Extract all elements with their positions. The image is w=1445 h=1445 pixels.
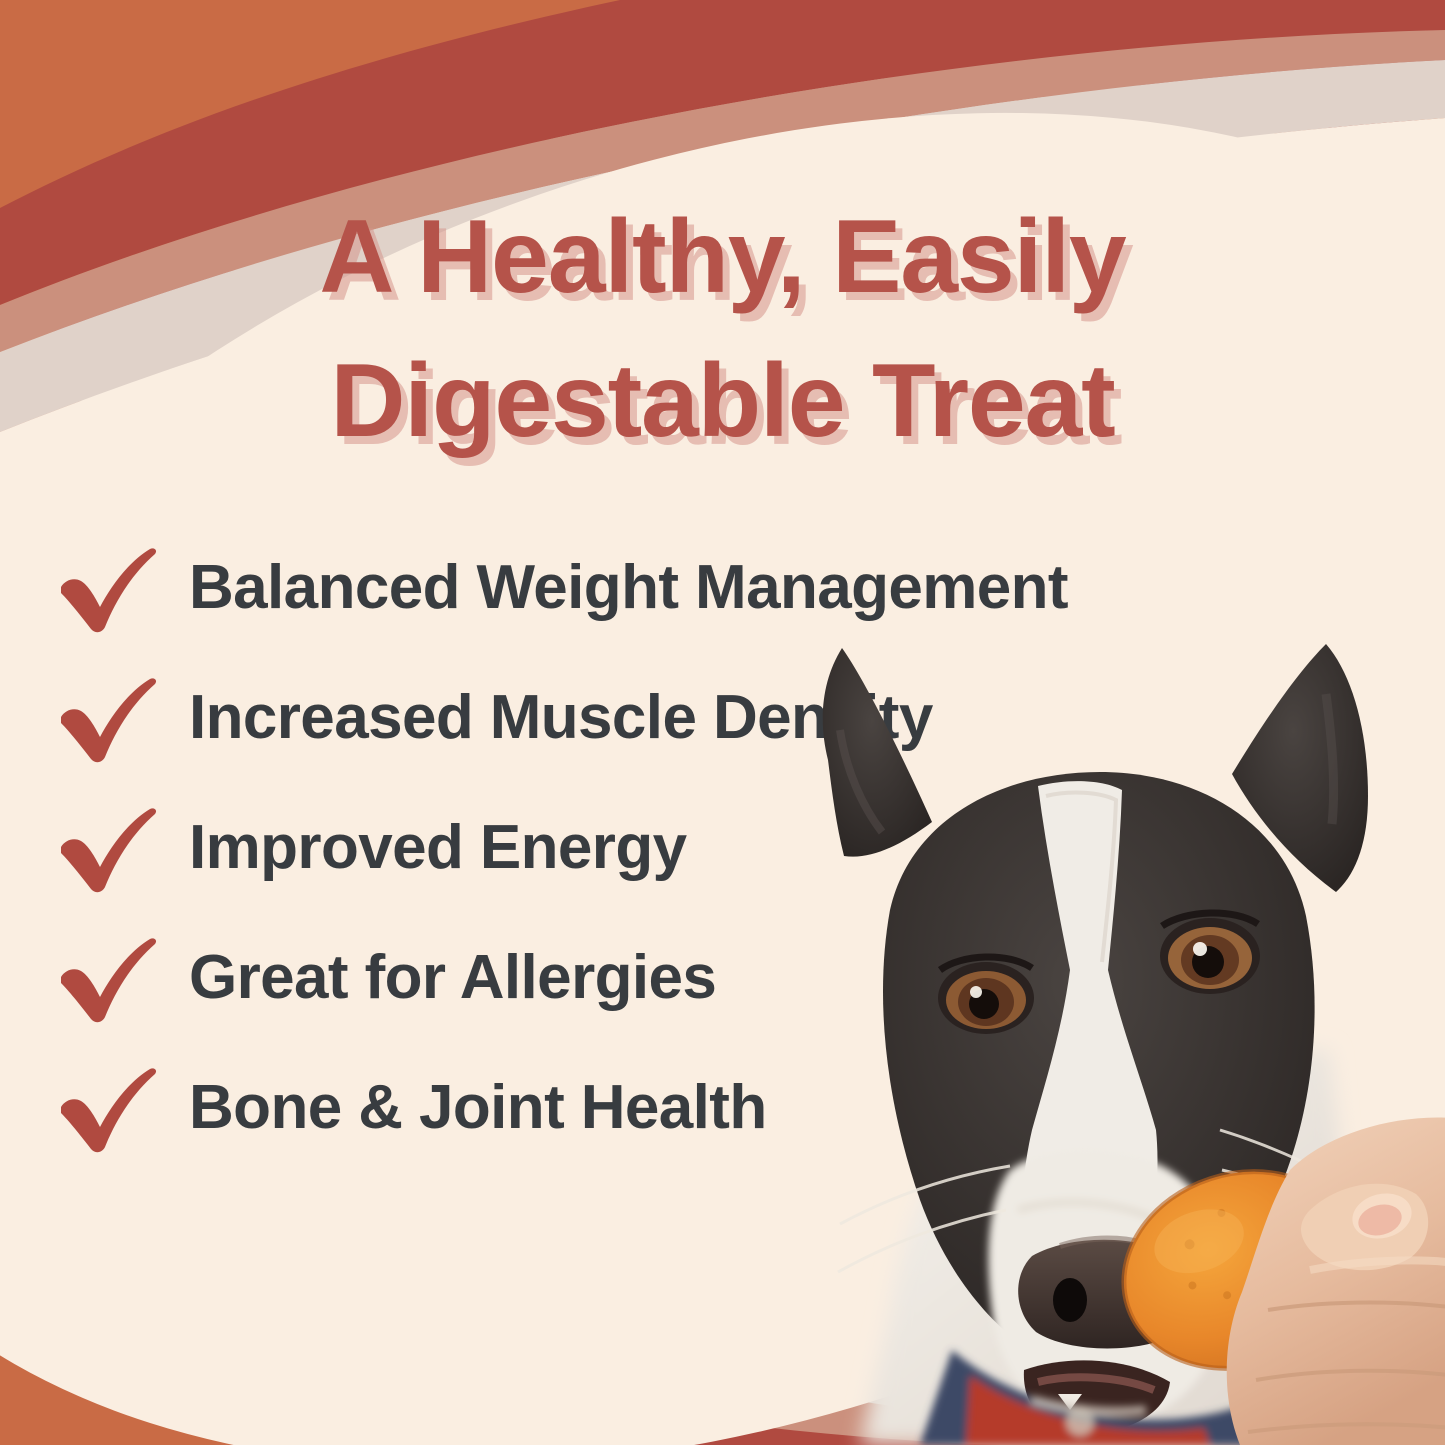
list-item-label: Improved Energy: [189, 817, 686, 879]
dog-eating-treat-photo: [770, 610, 1445, 1445]
checkmark-icon: [55, 547, 163, 633]
checkmark-icon: [55, 677, 163, 763]
title-line-2: Digestable Treat: [0, 330, 1445, 474]
checkmark-icon: [55, 1067, 163, 1153]
product-benefits-graphic: A Healthy, Easily Digestable Treat Balan…: [0, 0, 1445, 1445]
page-title: A Healthy, Easily Digestable Treat: [0, 186, 1445, 473]
list-item-label: Great for Allergies: [189, 947, 716, 1009]
checkmark-icon: [55, 807, 163, 893]
title-line-1: A Healthy, Easily: [0, 186, 1445, 330]
checkmark-icon: [55, 937, 163, 1023]
list-item-label: Bone & Joint Health: [189, 1077, 767, 1139]
